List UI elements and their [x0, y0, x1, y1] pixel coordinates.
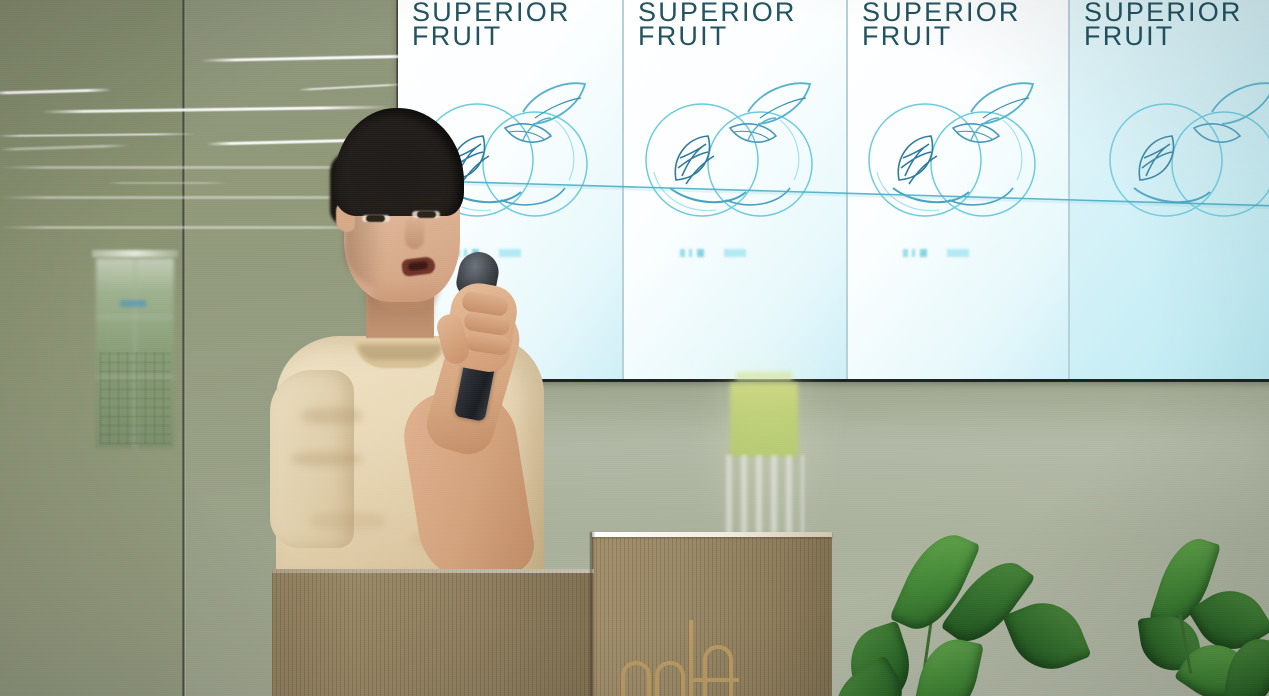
fruit-line-art-icon — [1094, 60, 1269, 235]
presentation-photo: 优品水果 SUPERIOR FRUIT — [0, 0, 1269, 696]
fence-grid-reflection — [100, 352, 170, 444]
panel-title-2: 优品水果 SUPERIOR FRUIT — [638, 0, 797, 49]
video-wall-panel-3[interactable]: 优品水果 SUPERIOR FRUIT — [848, 0, 1068, 382]
window-sill-reflection — [92, 250, 178, 257]
panel-en-line2: FRUIT — [862, 24, 1021, 50]
video-wall-panel-4[interactable]: 优品水果 SUPERIOR FRUIT — [1070, 0, 1269, 382]
fruit-line-art-icon — [853, 60, 1063, 235]
fruit-line-art-icon — [630, 60, 840, 235]
podium-top-edge-right — [592, 532, 832, 537]
speaker-eye — [417, 211, 436, 218]
glass-mullion-left — [182, 0, 185, 696]
panel-caption-smalltext — [903, 249, 1013, 257]
speaker-hair — [334, 108, 464, 216]
shirt-fold — [302, 408, 362, 424]
speaker-nose — [405, 218, 424, 249]
speaker-eye — [366, 215, 385, 222]
doorway-top-reflection — [736, 372, 792, 381]
panel-bezel — [1068, 0, 1070, 382]
video-wall-panel-2[interactable]: 优品水果 SUPERIOR FRUIT — [624, 0, 846, 382]
panel-caption-smalltext — [680, 249, 790, 257]
panel-title-4: 优品水果 SUPERIOR FRUIT — [1084, 0, 1243, 49]
collar-shadow — [358, 344, 442, 360]
panel-bezel — [622, 0, 624, 382]
wooden-podium — [272, 512, 832, 696]
podium-center-spine — [590, 532, 595, 696]
panel-title-1: 优品水果 SUPERIOR FRUIT — [412, 0, 571, 49]
podium-left-face — [272, 569, 594, 696]
panel-bezel — [846, 0, 848, 382]
panel-title-3: 优品水果 SUPERIOR FRUIT — [862, 0, 1021, 49]
doorway-reflection — [730, 383, 798, 457]
speaker — [262, 108, 562, 578]
panel-en-line2: FRUIT — [412, 24, 571, 50]
blue-object-reflection — [120, 300, 146, 307]
shirt-fold — [292, 452, 362, 466]
panel-en-line2: FRUIT — [638, 24, 797, 50]
podium-top-edge-left — [272, 569, 594, 573]
podium-carved-logo — [617, 614, 747, 696]
light-streak — [108, 182, 228, 184]
panel-en-line2: FRUIT — [1084, 24, 1243, 50]
